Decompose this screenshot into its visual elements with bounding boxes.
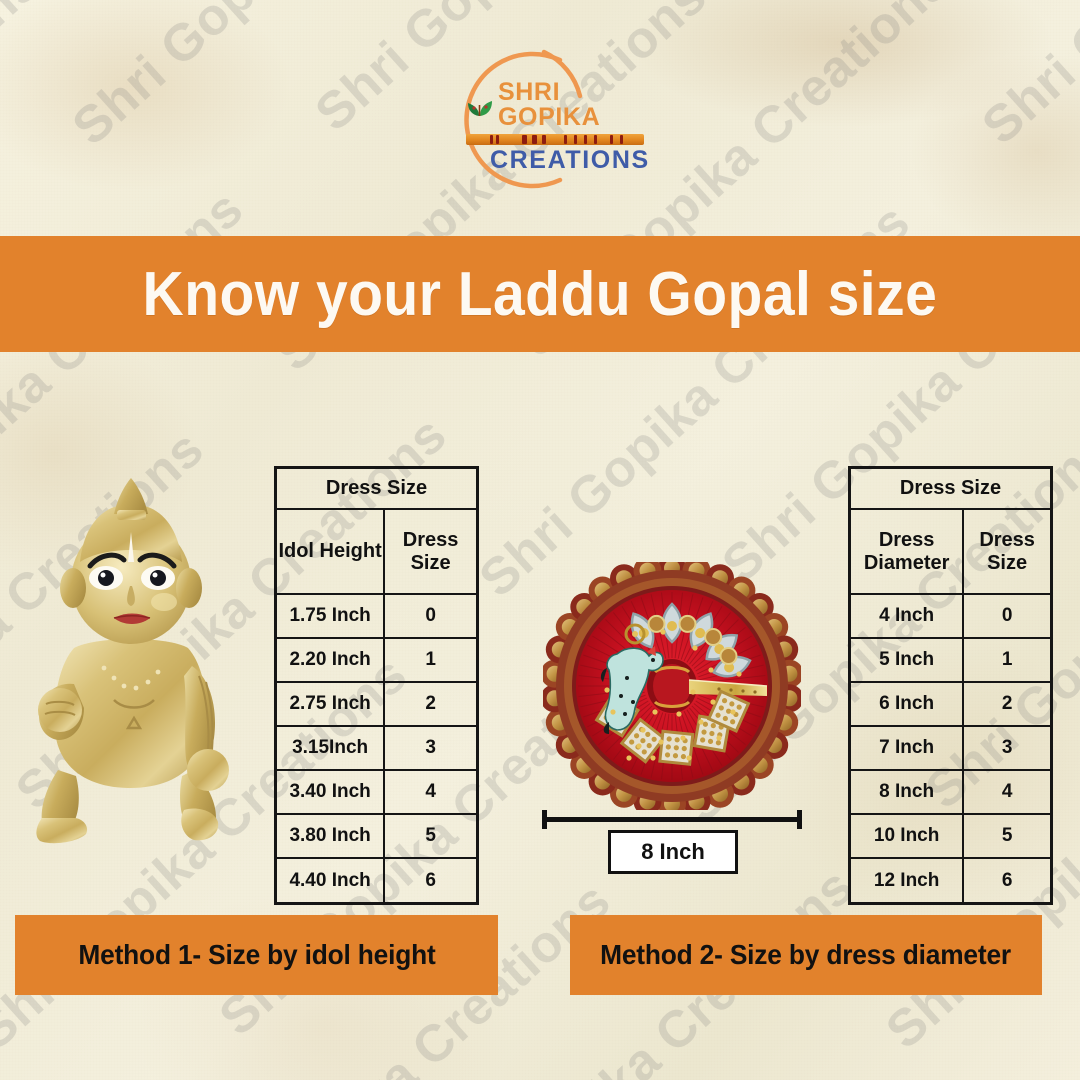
cell-size: 0 <box>384 594 476 638</box>
cell-measure: 2.20 Inch <box>277 638 384 682</box>
table-row: 3.40 Inch4 <box>277 770 476 814</box>
method-1-banner: Method 1- Size by idol height <box>15 915 498 995</box>
cell-size: 2 <box>963 682 1050 726</box>
table-title-row: Dress Size <box>851 469 1050 509</box>
column-header-2: Dress Size <box>384 509 476 594</box>
laddu-gopal-dress-image <box>543 562 801 810</box>
cell-size: 0 <box>963 594 1050 638</box>
cell-size: 2 <box>384 682 476 726</box>
dress-diameter-size-table: Dress SizeDress DiameterDress Size4 Inch… <box>848 466 1053 905</box>
table-header-row: Dress DiameterDress Size <box>851 509 1050 594</box>
cell-size: 4 <box>384 770 476 814</box>
table-row: 10 Inch5 <box>851 814 1050 858</box>
cell-measure: 4.40 Inch <box>277 858 384 902</box>
leaf-icon <box>466 92 494 118</box>
laddu-gopal-idol-image <box>18 470 250 870</box>
cell-measure: 3.15Inch <box>277 726 384 770</box>
table-row: 3.80 Inch5 <box>277 814 476 858</box>
column-header-2: Dress Size <box>963 509 1050 594</box>
method-2-label: Method 2- Size by dress diameter <box>601 939 1012 971</box>
table-header-row: Idol HeightDress Size <box>277 509 476 594</box>
brand-wordmark: SHRI GOPIKA CREATIONS <box>466 80 648 173</box>
method-1-label: Method 1- Size by idol height <box>78 939 435 971</box>
cell-measure: 3.40 Inch <box>277 770 384 814</box>
table-left-body: Dress SizeIdol HeightDress Size1.75 Inch… <box>277 469 476 902</box>
table-row: 3.15Inch3 <box>277 726 476 770</box>
cell-measure: 3.80 Inch <box>277 814 384 858</box>
cell-measure: 7 Inch <box>851 726 963 770</box>
page-title: Know your Laddu Gopal size <box>143 259 938 330</box>
idol-height-size-table: Dress SizeIdol HeightDress Size1.75 Inch… <box>274 466 479 905</box>
infographic-page: Shri Gopika CreationsShri Gopika Creatio… <box>0 0 1080 1080</box>
table-row: 7 Inch3 <box>851 726 1050 770</box>
cell-measure: 10 Inch <box>851 814 963 858</box>
cell-measure: 1.75 Inch <box>277 594 384 638</box>
cell-measure: 4 Inch <box>851 594 963 638</box>
brand-name-top: SHRI GOPIKA <box>498 80 648 130</box>
cell-size: 1 <box>384 638 476 682</box>
cell-size: 3 <box>384 726 476 770</box>
table-title-row: Dress Size <box>277 469 476 509</box>
column-header-1: Dress Diameter <box>851 509 963 594</box>
dimension-label: 8 Inch <box>608 830 738 874</box>
brand-name-bottom: CREATIONS <box>466 147 648 173</box>
cell-size: 3 <box>963 726 1050 770</box>
table-row: 2.75 Inch2 <box>277 682 476 726</box>
flute-icon <box>466 134 644 145</box>
table-row: 6 Inch2 <box>851 682 1050 726</box>
brand-logo: SHRI GOPIKA CREATIONS <box>432 36 648 204</box>
table-row: 5 Inch1 <box>851 638 1050 682</box>
table-row: 8 Inch4 <box>851 770 1050 814</box>
table-row: 1.75 Inch0 <box>277 594 476 638</box>
method-2-banner: Method 2- Size by dress diameter <box>570 915 1042 995</box>
table-row: 12 Inch6 <box>851 858 1050 902</box>
cell-measure: 8 Inch <box>851 770 963 814</box>
cell-size: 5 <box>384 814 476 858</box>
watermark-text: Shri Gopika Creations <box>971 0 1080 156</box>
cell-measure: 2.75 Inch <box>277 682 384 726</box>
title-banner: Know your Laddu Gopal size <box>0 236 1080 352</box>
dimension-line-icon <box>540 810 804 828</box>
cell-measure: 5 Inch <box>851 638 963 682</box>
cell-size: 6 <box>963 858 1050 902</box>
table-row: 2.20 Inch1 <box>277 638 476 682</box>
table-row: 4 Inch0 <box>851 594 1050 638</box>
table-title: Dress Size <box>851 469 1050 509</box>
table-row: 4.40 Inch6 <box>277 858 476 902</box>
cell-size: 4 <box>963 770 1050 814</box>
cell-size: 5 <box>963 814 1050 858</box>
column-header-1: Idol Height <box>277 509 384 594</box>
table-title: Dress Size <box>277 469 476 509</box>
cell-measure: 6 Inch <box>851 682 963 726</box>
cell-size: 1 <box>963 638 1050 682</box>
cell-size: 6 <box>384 858 476 902</box>
cell-measure: 12 Inch <box>851 858 963 902</box>
table-right-body: Dress SizeDress DiameterDress Size4 Inch… <box>851 469 1050 902</box>
